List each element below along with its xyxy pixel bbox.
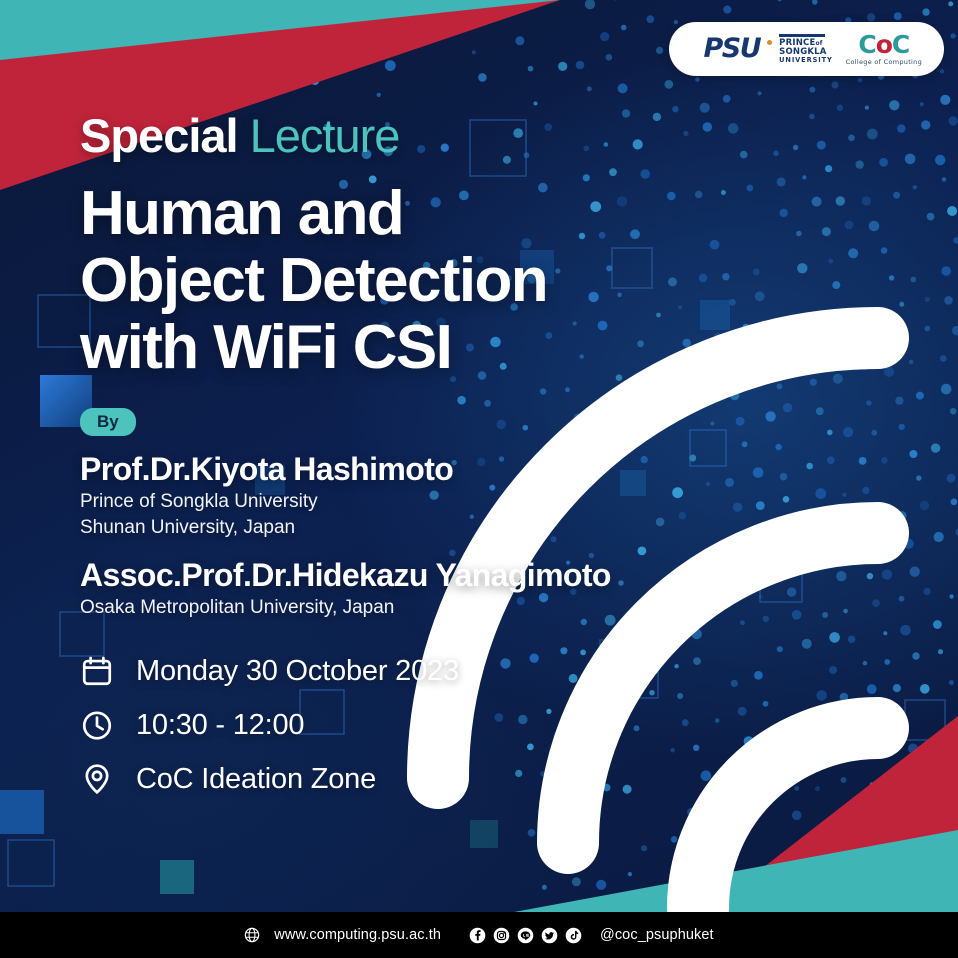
instagram-icon[interactable]	[493, 927, 510, 944]
by-badge: By	[80, 408, 136, 436]
eyebrow-word-special: Special	[80, 109, 238, 162]
title-line-2: Object Detection	[80, 248, 800, 315]
event-time-text: 10:30 - 12:00	[136, 709, 304, 742]
line-icon[interactable]	[517, 927, 534, 944]
clock-icon	[80, 708, 114, 742]
facebook-icon[interactable]	[469, 927, 486, 944]
calendar-icon	[80, 654, 114, 688]
globe-icon	[244, 927, 260, 943]
title-line-1: Human and	[80, 181, 800, 248]
coc-wordmark: CoC	[858, 32, 909, 57]
event-details: Monday 30 October 2023 10:30 - 12:00 CoC…	[80, 654, 800, 796]
event-location-text: CoC Ideation Zone	[136, 763, 376, 796]
speaker-1-affiliation-1: Prince of Songkla University	[80, 490, 800, 514]
speaker-1-affiliation-2: Shunan University, Japan	[80, 516, 800, 540]
lecture-poster: PSU PRINCEof SONGKLA UNIVERSITY CoC Coll…	[0, 0, 958, 958]
eyebrow-heading: Special Lecture	[80, 112, 800, 159]
speaker-2-name: Assoc.Prof.Dr.Hidekazu Yanagimoto	[80, 558, 800, 594]
tiktok-icon[interactable]	[565, 927, 582, 944]
speaker-2-affiliation-1: Osaka Metropolitan University, Japan	[80, 596, 800, 620]
coc-subtitle: College of Computing	[846, 58, 922, 66]
event-date-row: Monday 30 October 2023	[80, 654, 800, 688]
coc-logo: CoC College of Computing	[846, 32, 922, 66]
location-pin-icon	[80, 762, 114, 796]
poster-content: Special Lecture Human and Object Detecti…	[80, 0, 800, 796]
event-time-row: 10:30 - 12:00	[80, 708, 800, 742]
footer-bar: www.computing.psu.ac.th	[0, 912, 958, 958]
eyebrow-word-lecture: Lecture	[250, 109, 400, 162]
footer-social-icons	[469, 927, 582, 944]
page-title: Human and Object Detection with WiFi CSI	[80, 181, 800, 382]
footer-social-handle[interactable]: @coc_psuphuket	[600, 927, 714, 943]
footer-website[interactable]: www.computing.psu.ac.th	[274, 927, 441, 943]
event-date-text: Monday 30 October 2023	[136, 655, 459, 688]
speaker-1-name: Prof.Dr.Kiyota Hashimoto	[80, 452, 800, 488]
title-line-3: with WiFi CSI	[80, 315, 800, 382]
twitter-icon[interactable]	[541, 927, 558, 944]
event-location-row: CoC Ideation Zone	[80, 762, 800, 796]
